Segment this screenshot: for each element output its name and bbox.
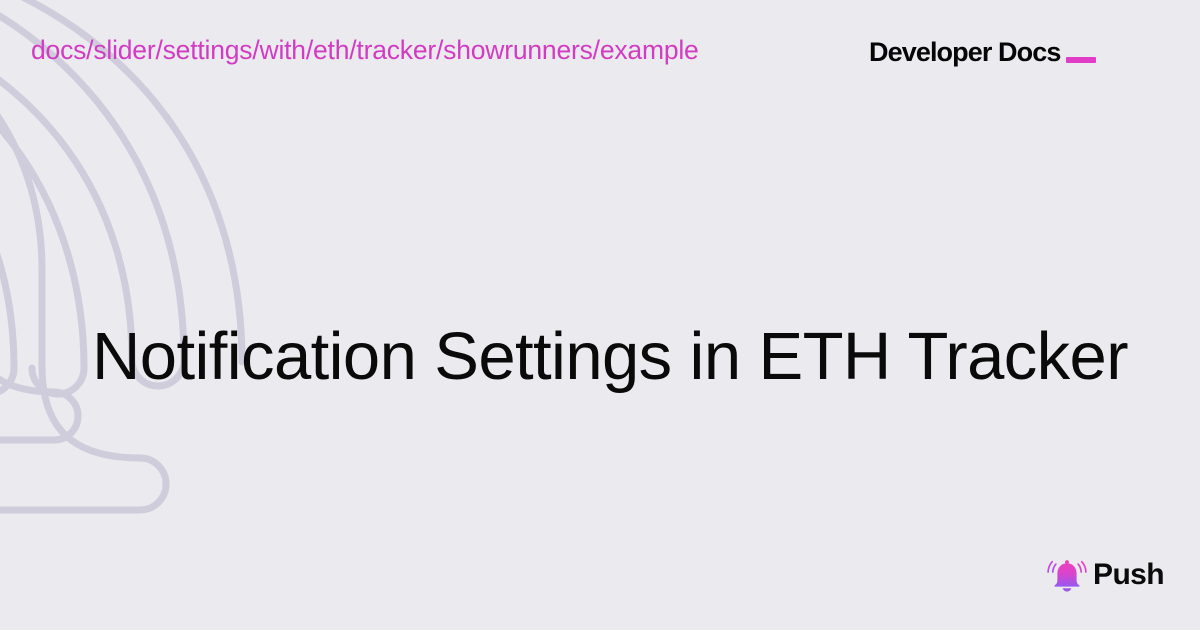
brand-lockup: Developer Docs (869, 35, 1096, 69)
push-bell-icon (1047, 555, 1087, 595)
bell-outline-watermark-icon (0, 0, 430, 630)
page-title: Notification Settings in ETH Tracker (92, 317, 1132, 397)
brand-accent-bar-icon (1066, 57, 1096, 63)
og-card: docs/slider/settings/with/eth/tracker/sh… (0, 0, 1200, 630)
push-wordmark: Push (1093, 558, 1164, 592)
breadcrumb: docs/slider/settings/with/eth/tracker/sh… (31, 33, 699, 67)
push-logo: Push (1047, 555, 1164, 595)
brand-label: Developer Docs (869, 35, 1060, 69)
